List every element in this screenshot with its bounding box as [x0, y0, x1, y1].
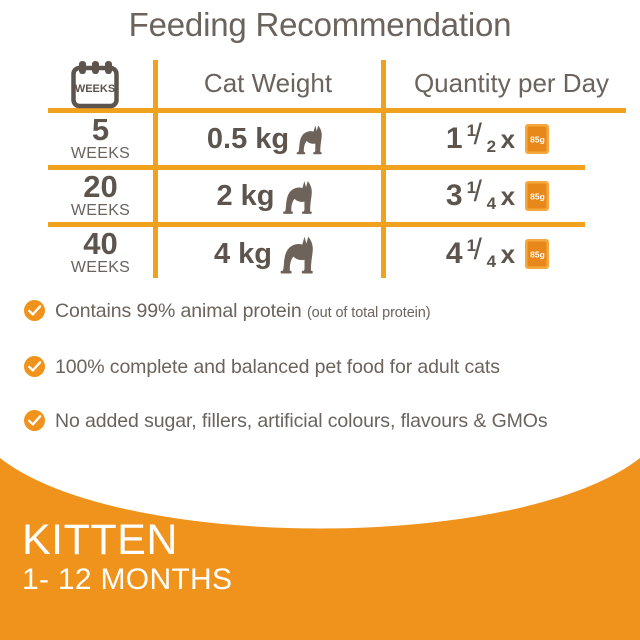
- svg-text:WEEKS: WEEKS: [75, 83, 115, 95]
- weight-value-row-1: 0.5 kg: [207, 123, 289, 156]
- table-row-divider-2: [48, 222, 585, 227]
- pouch-85g-icon: 85g: [524, 123, 550, 155]
- fraction-denominator-row-3: 4: [487, 252, 496, 272]
- svg-text:85g: 85g: [530, 250, 545, 260]
- weight-value-row-3: 4 kg: [214, 238, 272, 271]
- table-row: 20 WEEKS: [48, 172, 153, 219]
- list-item-text: 100% complete and balanced pet food for …: [55, 356, 500, 379]
- feeding-table: WEEKS Cat Weight Quantity per Day 5 WEEK…: [0, 0, 640, 290]
- banner-subheading: 1- 12 MONTHS: [22, 563, 232, 597]
- list-item-text: Contains 99% animal protein (out of tota…: [55, 300, 430, 325]
- list-item: Contains 99% animal protein (out of tota…: [24, 300, 430, 325]
- weight-value-row-2: 2 kg: [216, 180, 274, 213]
- cat-silhouette-icon: [279, 177, 320, 216]
- quantity-multiplier-row-1: x: [501, 124, 515, 155]
- check-circle-icon: [24, 410, 45, 431]
- quantity-cell-row-1: 1 1 / 2 x 85g: [383, 116, 613, 162]
- table-row: 5 WEEKS: [48, 115, 153, 162]
- quantity-fraction-row-2: 1 / 4: [467, 179, 497, 213]
- quantity-cell-row-3: 4 1 / 4 x 85g: [383, 230, 613, 278]
- list-item: No added sugar, fillers, artificial colo…: [24, 410, 609, 433]
- table-row: 40 WEEKS: [48, 229, 153, 276]
- calendar-weeks-icon: WEEKS: [68, 59, 120, 109]
- pouch-85g-icon: 85g: [524, 238, 550, 270]
- table-row-divider-1: [48, 165, 585, 170]
- quantity-cell-row-2: 3 1 / 4 x 85g: [383, 173, 613, 219]
- column-header-quantity-day: Quantity per Day: [383, 68, 640, 99]
- bullet-1-main: Contains 99% animal protein: [55, 300, 307, 322]
- weight-cell-row-1: 0.5 kg: [153, 116, 383, 162]
- age-number-row-1: 5: [48, 115, 153, 145]
- quantity-whole-row-2: 3: [446, 179, 463, 213]
- fraction-denominator-row-1: 2: [487, 137, 496, 157]
- quantity-multiplier-row-2: x: [501, 181, 515, 212]
- column-header-cat-weight: Cat Weight: [153, 68, 383, 99]
- quantity-fraction-row-3: 1 / 4: [467, 237, 497, 271]
- fraction-slash-row-2: /: [474, 177, 482, 207]
- banner-text-block: KITTEN 1- 12 MONTHS: [22, 519, 232, 597]
- quantity-whole-row-3: 4: [446, 237, 463, 271]
- list-item: 100% complete and balanced pet food for …: [24, 356, 500, 379]
- age-number-row-2: 20: [48, 172, 153, 202]
- age-unit-row-3: WEEKS: [48, 259, 153, 276]
- feeding-recommendation-panel: Feeding Recommendation WEEKS Cat Weight …: [0, 0, 640, 640]
- svg-text:85g: 85g: [530, 135, 545, 145]
- check-circle-icon: [24, 356, 45, 377]
- cat-silhouette-icon: [276, 232, 322, 276]
- weight-cell-row-2: 2 kg: [153, 173, 383, 219]
- quantity-fraction-row-1: 1 / 2: [467, 122, 497, 156]
- cat-silhouette-icon: [293, 122, 329, 156]
- list-item-text: No added sugar, fillers, artificial colo…: [55, 410, 548, 433]
- quantity-whole-row-1: 1: [446, 122, 463, 156]
- age-unit-row-2: WEEKS: [48, 202, 153, 219]
- fraction-slash-row-3: /: [474, 235, 482, 265]
- svg-text:85g: 85g: [530, 192, 545, 202]
- banner-heading: KITTEN: [22, 519, 232, 561]
- quantity-multiplier-row-3: x: [501, 239, 515, 270]
- check-circle-icon: [24, 300, 45, 321]
- pouch-85g-icon: 85g: [524, 180, 550, 212]
- age-number-row-3: 40: [48, 229, 153, 259]
- fraction-denominator-row-2: 4: [487, 194, 496, 214]
- weight-cell-row-3: 4 kg: [153, 230, 383, 278]
- table-header-underline: [48, 108, 626, 113]
- fraction-slash-row-1: /: [474, 120, 482, 150]
- product-stage-banner: KITTEN 1- 12 MONTHS: [0, 440, 640, 640]
- age-unit-row-1: WEEKS: [48, 145, 153, 162]
- bullet-1-sub: (out of total protein): [307, 305, 431, 321]
